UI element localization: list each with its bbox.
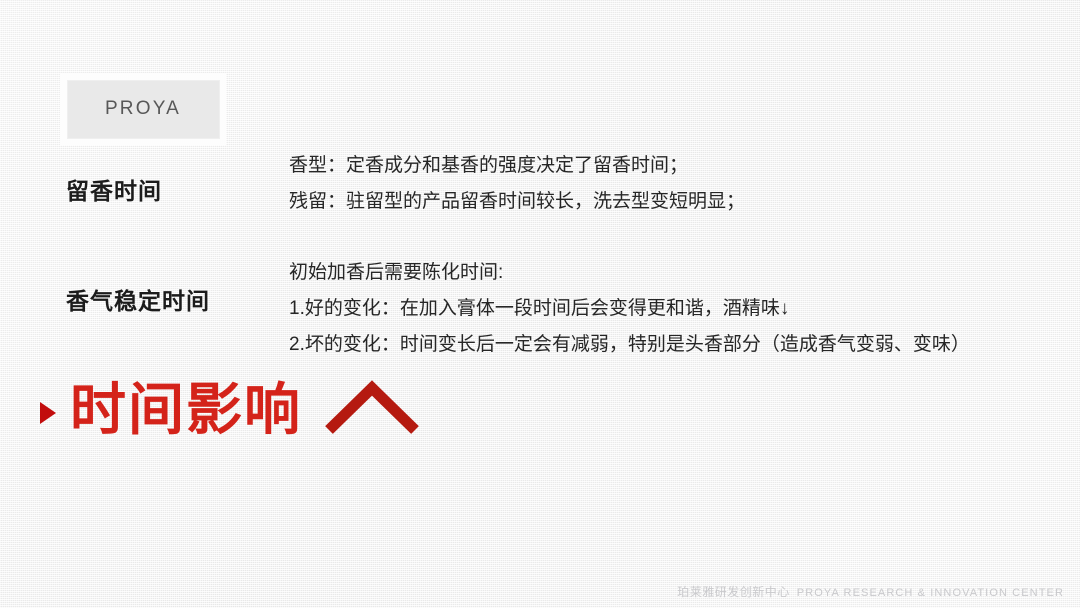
body-line: 香型：定香成分和基香的强度决定了留香时间； <box>289 148 745 184</box>
headline-title: 时间影响 <box>70 382 302 438</box>
footer-text-en: PROYA RESEARCH & INNOVATION CENTER <box>797 587 1064 599</box>
body-line: 初始加香后需要陈化时间: <box>289 255 970 291</box>
body-line: 1.好的变化：在加入膏体一段时间后会变得更和谐，酒精味↓ <box>289 291 970 327</box>
caret-up-icon <box>324 378 420 443</box>
proya-logo: PROYA <box>60 73 226 145</box>
logo-text: PROYA <box>105 98 181 120</box>
body-line: 残留：驻留型的产品留香时间较长，洗去型变短明显； <box>289 184 745 220</box>
headline-block: 时间影响 <box>40 376 420 443</box>
logo-box: PROYA <box>67 80 220 139</box>
body-line: 2.坏的变化：时间变长后一定会有减弱，特别是头香部分（造成香气变弱、变味） <box>289 327 970 363</box>
triangle-right-icon <box>40 402 56 424</box>
footer: 珀莱雅研发创新中心 PROYA RESEARCH & INNOVATION CE… <box>677 583 1064 600</box>
section-body-stability-time: 初始加香后需要陈化时间: 1.好的变化：在加入膏体一段时间后会变得更和谐，酒精味… <box>289 255 970 363</box>
section-label-stability-time: 香气稳定时间 <box>66 282 210 316</box>
section-body-retention-time: 香型：定香成分和基香的强度决定了留香时间； 残留：驻留型的产品留香时间较长，洗去… <box>289 148 745 220</box>
footer-text-cn: 珀莱雅研发创新中心 <box>677 583 790 600</box>
slide-canvas: PROYA 留香时间 香型：定香成分和基香的强度决定了留香时间； 残留：驻留型的… <box>0 0 1080 608</box>
section-label-retention-time: 留香时间 <box>66 172 162 206</box>
